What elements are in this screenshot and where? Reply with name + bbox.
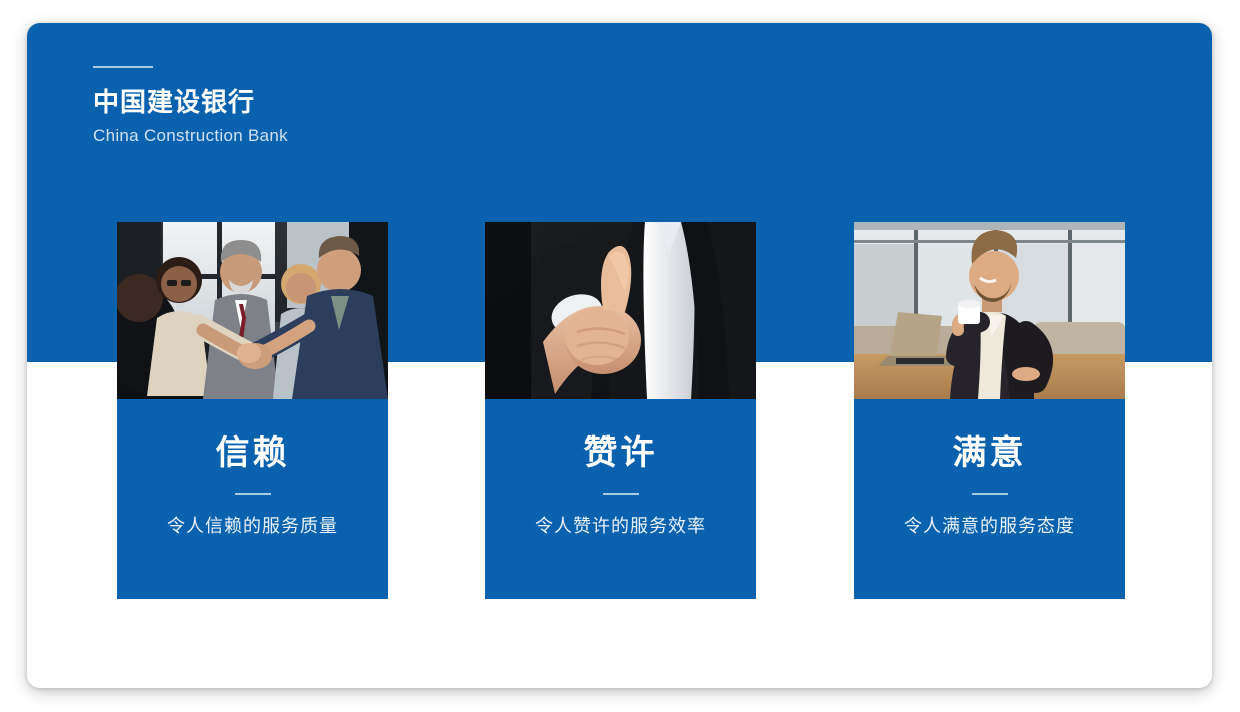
presentation-slide: 中国建设银行 China Construction Bank	[27, 23, 1212, 688]
feature-card-description: 令人满意的服务态度	[854, 495, 1125, 538]
screenshot-stage: 中国建设银行 China Construction Bank	[0, 0, 1240, 712]
feature-card-description: 令人赞许的服务效率	[485, 495, 756, 538]
feature-card-body: 信赖 令人信赖的服务质量	[117, 399, 388, 599]
feature-card-title: 信赖	[117, 399, 388, 472]
feature-card-title: 赞许	[485, 399, 756, 472]
feature-card[interactable]: 信赖 令人信赖的服务质量	[117, 222, 388, 599]
feature-card[interactable]: 满意 令人满意的服务态度	[854, 222, 1125, 599]
businessman-with-coffee-photo	[854, 222, 1125, 399]
feature-card-body: 满意 令人满意的服务态度	[854, 399, 1125, 599]
feature-card-body: 赞许 令人赞许的服务效率	[485, 399, 756, 599]
thumbs-up-photo	[485, 222, 756, 399]
business-handshake-photo	[117, 222, 388, 399]
feature-card-description: 令人信赖的服务质量	[117, 495, 388, 538]
feature-card[interactable]: 赞许 令人赞许的服务效率	[485, 222, 756, 599]
feature-card-group: 信赖 令人信赖的服务质量	[27, 23, 1212, 688]
feature-card-title: 满意	[854, 399, 1125, 472]
